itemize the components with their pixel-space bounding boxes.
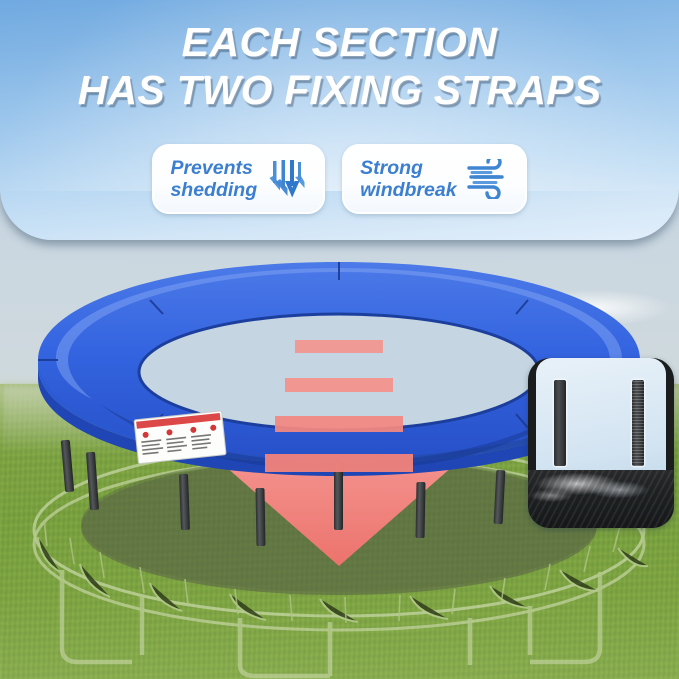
badge-label-line-1: Prevents	[170, 157, 257, 179]
badge-label-line-1: Strong	[360, 157, 456, 179]
infographic-canvas: EACH SECTION HAS TWO FIXING STRAPS Preve…	[0, 0, 679, 679]
wind-icon	[465, 159, 511, 199]
cloud	[300, 330, 490, 364]
cloud	[90, 300, 240, 340]
header-panel: EACH SECTION HAS TWO FIXING STRAPS Preve…	[0, 0, 679, 240]
title-line-1: EACH SECTION	[0, 18, 679, 66]
cloud	[520, 290, 670, 326]
page-title: EACH SECTION HAS TWO FIXING STRAPS	[0, 18, 679, 114]
inset-fabric-underside	[528, 470, 674, 528]
badge-label-line-2: shedding	[170, 179, 257, 201]
badge-label: Strong windbreak	[360, 157, 456, 201]
feature-badge-prevents-shedding[interactable]: Prevents shedding	[152, 144, 325, 214]
strap-closeup-photo	[528, 358, 674, 528]
title-line-2: HAS TWO FIXING STRAPS	[0, 66, 679, 114]
inset-strap-left	[554, 380, 566, 466]
badge-label-line-2: windbreak	[360, 179, 456, 201]
badge-label: Prevents shedding	[170, 157, 257, 201]
feature-badge-strong-windbreak[interactable]: Strong windbreak	[342, 144, 526, 214]
feature-badge-list: Prevents shedding	[0, 144, 679, 214]
inset-strap-right	[632, 380, 644, 466]
down-arrows-icon	[265, 157, 309, 201]
